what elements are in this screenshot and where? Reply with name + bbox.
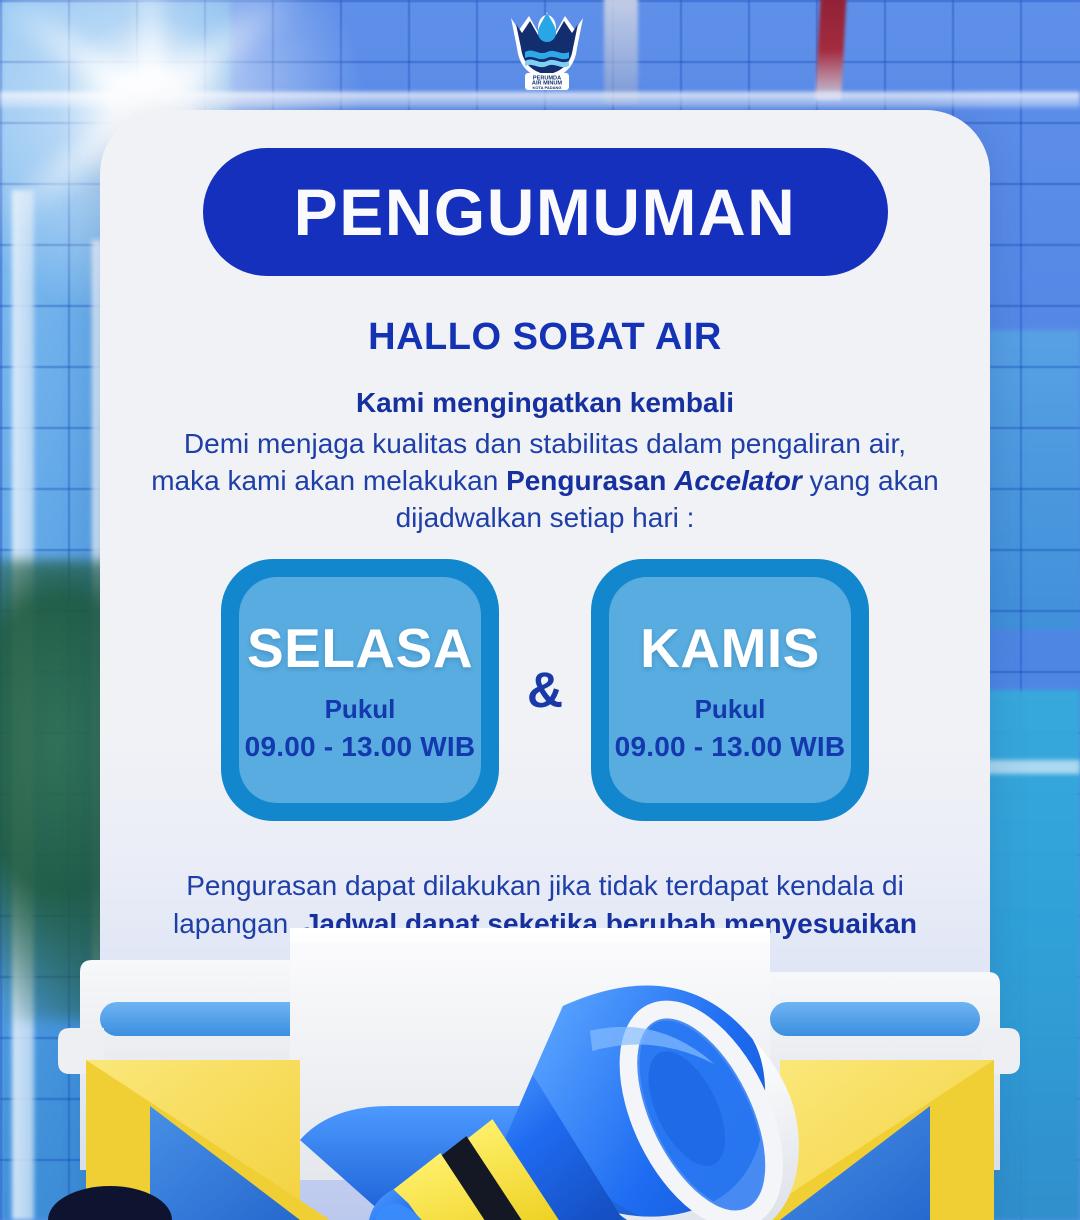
schedule-pukul-label: Pukul <box>325 694 396 725</box>
schedule-card-kamis-inner: KAMIS Pukul 09.00 - 13.00 WIB <box>609 577 851 803</box>
background-grey-mast <box>604 0 638 104</box>
poster-canvas: PERUMDA AIR MINUM KOTA PADANG PENGUMUMAN… <box>0 0 1080 1220</box>
headline-text: PENGUMUMAN <box>294 179 797 245</box>
perumda-air-minum-logo: PERUMDA AIR MINUM KOTA PADANG <box>507 2 587 94</box>
schedule-pukul-label: Pukul <box>695 694 766 725</box>
lead-strong-line: Kami mengingatkan kembali <box>146 385 944 422</box>
subtitle-text: HALLO SOBAT AIR <box>100 316 990 359</box>
schedule-card-selasa-inner: SELASA Pukul 09.00 - 13.00 WIB <box>239 577 481 803</box>
lead-paragraph: Kami mengingatkan kembaliDemi menjaga ku… <box>100 385 990 537</box>
schedule-card-kamis[interactable]: KAMIS Pukul 09.00 - 13.00 WIB <box>591 559 869 821</box>
headline-pill: PENGUMUMAN <box>203 148 888 276</box>
logo-text-line3: KOTA PADANG <box>532 85 561 90</box>
schedule-day-name: KAMIS <box>640 620 820 678</box>
schedule-row: SELASA Pukul 09.00 - 13.00 WIB & KAMIS P… <box>100 559 990 821</box>
footnote-bold: Jadwal dapat seketika berubah menyesuaik… <box>304 908 917 977</box>
schedule-card-selasa[interactable]: SELASA Pukul 09.00 - 13.00 WIB <box>221 559 499 821</box>
lead-bold: Pengurasan <box>506 465 674 496</box>
schedule-time: 09.00 - 13.00 WIB <box>245 731 476 763</box>
footnote-paragraph: Pengurasan dapat dilakukan jika tidak te… <box>100 867 990 981</box>
announcement-card: PENGUMUMAN HALLO SOBAT AIR Kami menginga… <box>100 110 990 1220</box>
lead-bold-italic: Accelator <box>674 465 802 496</box>
schedule-time: 09.00 - 13.00 WIB <box>615 731 846 763</box>
schedule-separator: & <box>525 665 565 715</box>
schedule-day-name: SELASA <box>247 620 473 678</box>
